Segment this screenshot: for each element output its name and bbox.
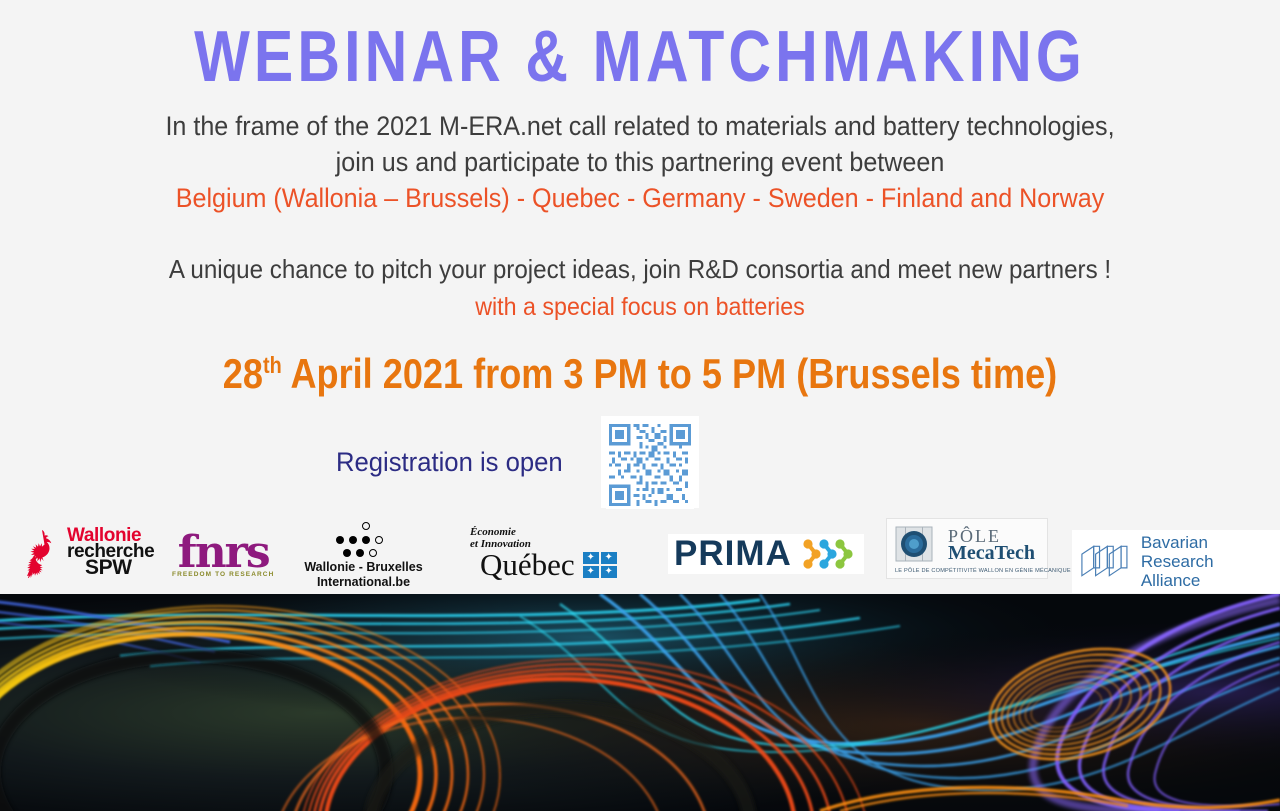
logo-wallonie-text: Wallonie recherche SPW xyxy=(67,528,154,576)
qr-code[interactable] xyxy=(601,416,699,508)
abstract-light-trails-image xyxy=(0,594,1280,811)
date-ordinal-suffix: th xyxy=(263,352,282,378)
registration-row: Registration is open xyxy=(330,412,700,512)
logo-bra-line2: Research Alliance xyxy=(1141,552,1214,590)
qr-code-icon xyxy=(606,421,694,509)
countries-line: Belgium (Wallonia – Brussels) - Quebec -… xyxy=(45,180,1235,216)
logo-prima-word: PRIMA xyxy=(674,536,792,572)
date-day: 28 xyxy=(223,350,263,397)
logo-fnrs-word: fnrs xyxy=(172,532,274,574)
logo-quebec: Économie et Innovation Québec ✦ ✦ ✦ ✦ xyxy=(466,526,617,580)
logo-quebec-word: Québec xyxy=(480,550,575,580)
fleur-de-lis-4: ✦ xyxy=(601,566,617,578)
date-remainder: April 2021 from 3 PM to 5 PM (Brussels t… xyxy=(282,350,1057,397)
intro-paragraph: In the frame of the 2021 M-ERA.net call … xyxy=(45,108,1235,216)
fleur-de-lis-3: ✦ xyxy=(583,566,599,578)
light-trails-graphic xyxy=(0,594,1280,811)
logo-pole-mecatech: PÔLE MecaTech LE PÔLE DE COMPÉTITIVITÉ W… xyxy=(886,518,1048,579)
three-flags-icon xyxy=(1078,542,1131,582)
registration-label: Registration is open xyxy=(336,447,563,478)
intro-line-2: join us and participate to this partneri… xyxy=(336,147,945,177)
logo-pole-tagline: LE PÔLE DE COMPÉTITIVITÉ WALLON EN GÉNIE… xyxy=(895,568,1039,574)
logo-wbi-text: Wallonie - Bruxelles International.be xyxy=(296,560,431,590)
poster: WEBINAR & MATCHMAKING In the frame of th… xyxy=(0,0,1280,811)
logo-pole-line2: MecaTech xyxy=(948,545,1035,562)
event-datetime: 28th April 2021 from 3 PM to 5 PM (Bruss… xyxy=(90,340,1191,399)
logo-bra-text: Bavarian Research Alliance xyxy=(1141,533,1274,590)
fleur-de-lis-2: ✦ xyxy=(601,552,617,564)
logo-fnrs-tagline: FREEDOM TO RESEARCH xyxy=(172,571,274,578)
logo-pole-row: PÔLE MecaTech xyxy=(895,525,1039,565)
logo-wallonie-bruxelles-international: Wallonie - Bruxelles International.be xyxy=(296,522,431,590)
logo-quebec-small1: Économie xyxy=(470,526,516,538)
logo-bra-line1: Bavarian xyxy=(1141,533,1208,552)
page-title: WEBINAR & MATCHMAKING xyxy=(115,18,1165,96)
blue-sphere-icon xyxy=(895,525,941,565)
intro-line-1: In the frame of the 2021 M-ERA.net call … xyxy=(165,111,1114,141)
pitch-line: A unique chance to pitch your project id… xyxy=(45,251,1235,287)
logo-prima: PRIMA xyxy=(668,534,864,574)
logo-pole-words: PÔLE MecaTech xyxy=(948,528,1035,562)
logo-wallonie-line3: SPW xyxy=(67,560,154,576)
focus-line: with a special focus on batteries xyxy=(45,290,1235,324)
logo-bavarian-research-alliance: Bavarian Research Alliance xyxy=(1072,530,1280,593)
logo-wbi-line2: International.be xyxy=(317,575,410,589)
logo-quebec-row: Québec ✦ ✦ ✦ ✦ xyxy=(466,550,617,580)
quebec-flag-icon: ✦ ✦ ✦ ✦ xyxy=(583,552,617,578)
logo-wallonie-recherche-spw: Wallonie recherche SPW xyxy=(16,526,154,578)
chevron-dots-icon xyxy=(802,539,858,569)
logo-fnrs: fnrs FREEDOM TO RESEARCH xyxy=(172,532,274,578)
fleur-de-lis-1: ✦ xyxy=(583,552,599,564)
logo-wbi-line1: Wallonie - Bruxelles xyxy=(304,560,422,574)
partner-logos: Wallonie recherche SPW fnrs FREEDOM TO R… xyxy=(0,516,1280,594)
dot-matrix-icon xyxy=(332,522,396,558)
rooster-icon xyxy=(16,526,60,578)
